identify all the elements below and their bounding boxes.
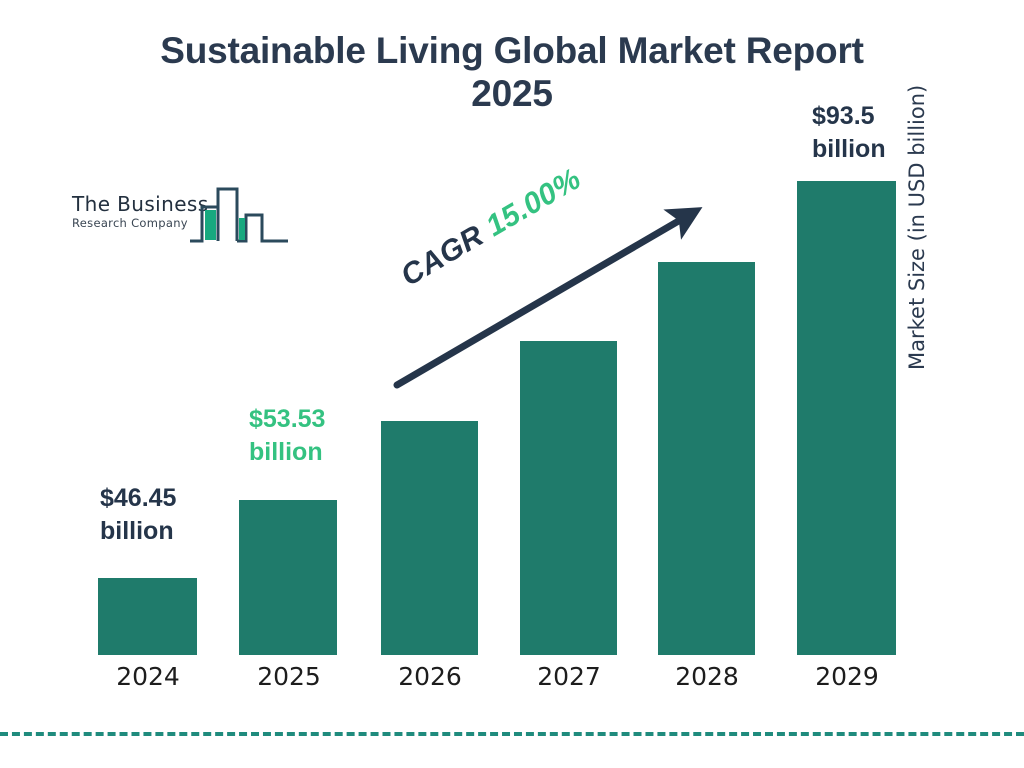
x-tick-2026: 2026 bbox=[360, 662, 500, 691]
x-tick-2024: 2024 bbox=[78, 662, 218, 691]
bar-2028[interactable] bbox=[658, 262, 755, 655]
bar-2029[interactable] bbox=[797, 181, 896, 655]
bar-2027[interactable] bbox=[520, 341, 617, 655]
bar-2026[interactable] bbox=[381, 421, 478, 655]
y-axis-title: Market Size (in USD billion) bbox=[905, 30, 929, 370]
x-tick-2027: 2027 bbox=[499, 662, 639, 691]
value-label-1: $53.53 billion bbox=[249, 403, 325, 469]
x-tick-2029: 2029 bbox=[777, 662, 917, 691]
bar-2024[interactable] bbox=[98, 578, 197, 655]
chart-canvas: Sustainable Living Global Market Report … bbox=[0, 0, 1024, 768]
bar-2025[interactable] bbox=[239, 500, 337, 655]
value-label-0: $46.45 billion bbox=[100, 482, 176, 548]
cagr-annotation: CAGR15.00% bbox=[395, 162, 587, 293]
plot-area: 202420252026202720282029 $46.45 billion$… bbox=[0, 0, 1024, 768]
x-tick-2028: 2028 bbox=[637, 662, 777, 691]
value-label-2: $93.5 billion bbox=[812, 100, 886, 166]
footer-divider bbox=[0, 732, 1024, 736]
x-tick-2025: 2025 bbox=[219, 662, 359, 691]
cagr-value: 15.00% bbox=[480, 162, 586, 243]
cagr-label: CAGR bbox=[395, 219, 489, 293]
